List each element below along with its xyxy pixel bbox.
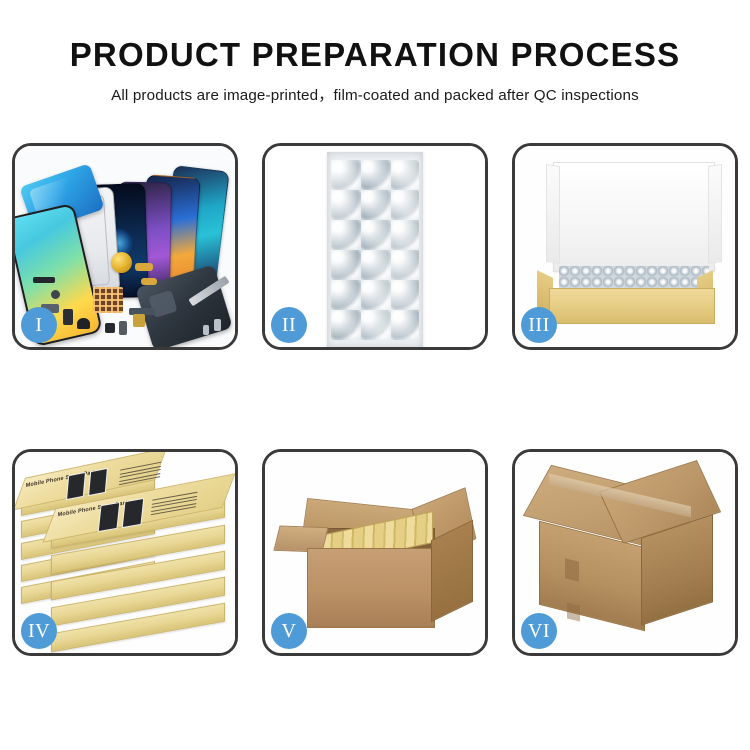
page-subtitle: All products are image-printed，film-coat… — [0, 83, 750, 105]
coil-part-icon — [111, 252, 132, 273]
spare-part-icon — [135, 263, 153, 271]
spare-part-icon — [63, 309, 73, 325]
step-badge-2: II — [271, 307, 307, 343]
screw-icon — [214, 319, 221, 331]
process-steps-grid: I II III — [12, 143, 738, 656]
process-step-panel-5: V — [262, 449, 488, 656]
screen-image-icon — [66, 472, 86, 500]
screen-image-icon — [122, 498, 145, 528]
step-badge-1: I — [21, 307, 57, 343]
spare-part-icon — [133, 314, 145, 327]
carton-tab-icon — [567, 602, 580, 621]
kraft-box-front-icon — [549, 288, 715, 324]
carton-tab-icon — [565, 558, 579, 581]
process-step-panel-1: I — [12, 143, 238, 350]
page-title: PRODUCT PREPARATION PROCESS — [0, 38, 750, 73]
screen-image-icon — [98, 502, 121, 532]
step-badge-5: V — [271, 613, 307, 649]
page-header: PRODUCT PREPARATION PROCESS All products… — [0, 0, 750, 105]
process-step-panel-2: II — [262, 143, 488, 350]
spare-part-icon — [77, 318, 90, 329]
process-step-panel-4: Mobile Phone Spare Parts Mobile Phone Sp… — [12, 449, 238, 656]
process-step-panel-6: VI — [512, 449, 738, 656]
carton-front-icon — [307, 548, 435, 628]
spare-part-icon — [51, 290, 60, 299]
spare-part-icon — [119, 321, 127, 335]
white-lid-icon — [553, 162, 715, 272]
bubble-wrap-icon — [331, 160, 419, 340]
screw-icon — [203, 325, 209, 335]
spare-part-icon — [33, 277, 55, 283]
spare-part-icon — [141, 278, 157, 285]
step-badge-4: IV — [21, 613, 57, 649]
step-badge-6: VI — [521, 613, 557, 649]
spare-part-icon — [105, 323, 115, 333]
process-step-panel-3: III — [512, 143, 738, 350]
chip-grid-icon — [93, 287, 123, 313]
screen-image-icon — [88, 468, 108, 496]
step-badge-3: III — [521, 307, 557, 343]
